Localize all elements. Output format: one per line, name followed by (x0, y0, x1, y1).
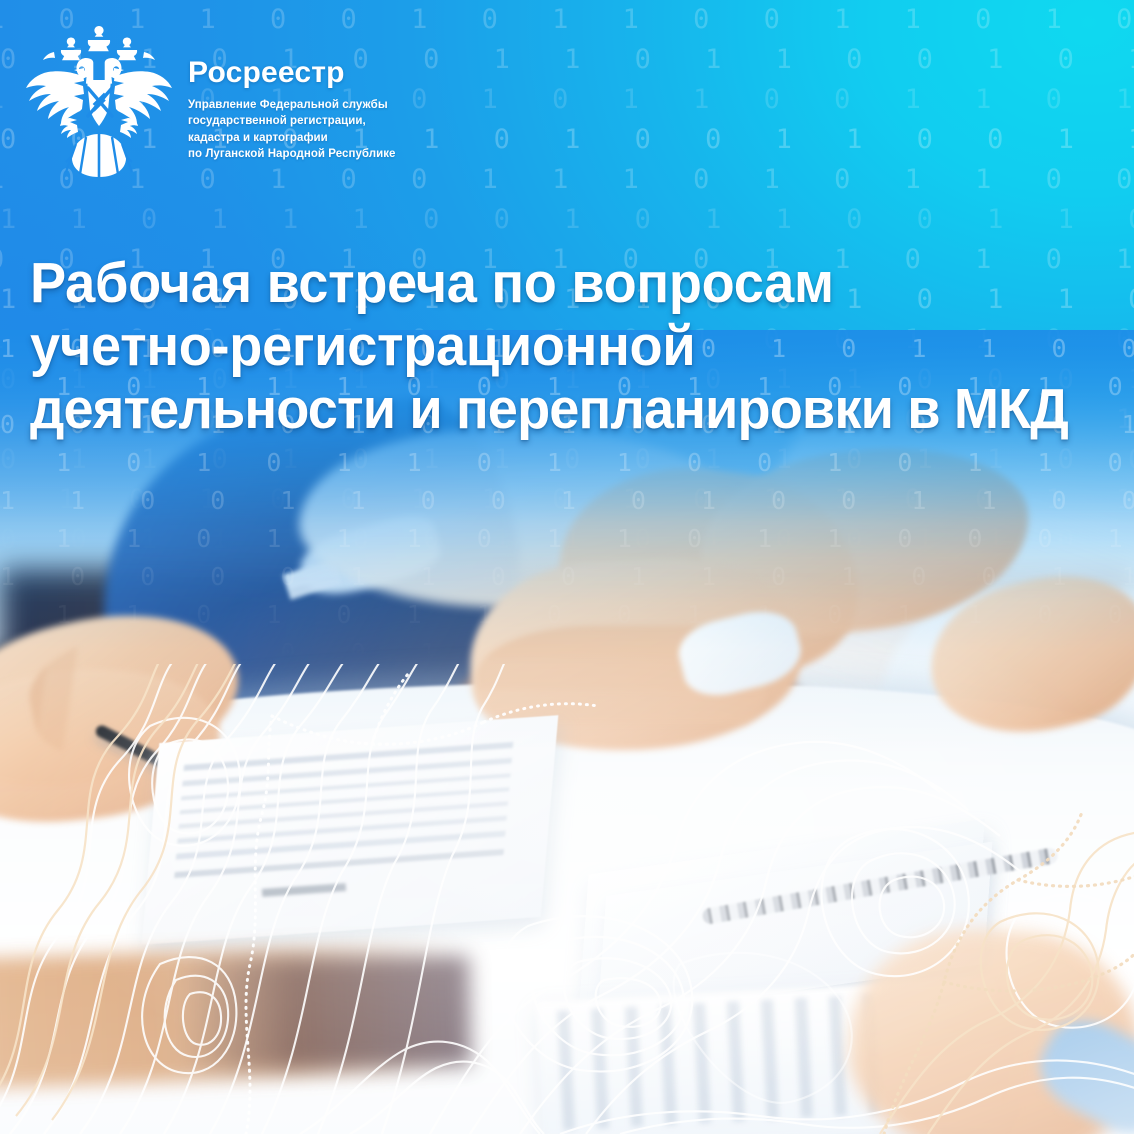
logo-text-group: Росреестр Управление Федеральной службы … (188, 22, 396, 162)
brand-subtitle-line-3: кадастра и картографии (188, 130, 396, 146)
photo-dark-band-bottom-left (179, 955, 471, 1070)
photo-paper-sheet-lines (557, 993, 893, 1130)
headline: Рабочая встреча по вопросам учетно-регис… (30, 252, 1075, 441)
headline-line-3: деятельности и перепланировки в МКД (30, 378, 1075, 441)
headline-line-2: учетно-регистрационной (30, 315, 1075, 378)
brand-subtitle: Управление Федеральной службы государств… (188, 97, 396, 162)
rosreestr-double-headed-eagle-emblem-icon (24, 22, 174, 177)
brand-name: Росреестр (188, 58, 396, 88)
rosreestr-logo-block: Росреестр Управление Федеральной службы … (24, 22, 396, 177)
handshake-photograph (0, 330, 1134, 1134)
brand-subtitle-line-2: государственной регистрации, (188, 113, 396, 129)
binary-row: 1 1 0 1 1 1 0 0 1 0 1 1 0 0 1 1 0 1 0 0 … (0, 200, 1134, 240)
photo-document-text-lines (173, 742, 514, 896)
poster-canvas: 1 0 1 1 0 0 1 0 1 1 0 0 1 1 0 1 0 0 1 1 … (0, 0, 1134, 1134)
brand-subtitle-line-1: Управление Федеральной службы (188, 97, 396, 113)
headline-line-1: Рабочая встреча по вопросам (30, 252, 1075, 315)
brand-subtitle-line-4: по Луганской Народной Республике (188, 146, 396, 162)
